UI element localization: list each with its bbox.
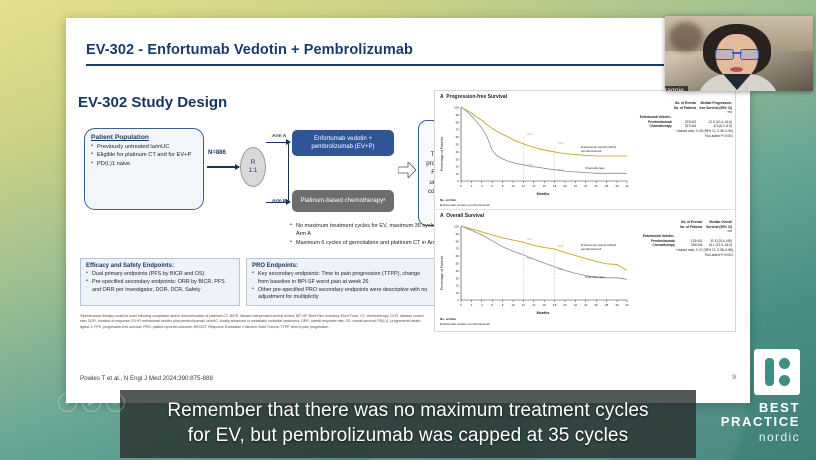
svg-text:0: 0 bbox=[460, 184, 462, 188]
glasses-left-lens bbox=[715, 49, 734, 60]
os-pvalue: Two-sided P<0.001 bbox=[637, 253, 733, 258]
svg-text:40: 40 bbox=[456, 150, 460, 154]
svg-text:80: 80 bbox=[456, 239, 460, 243]
efficacy-safety-endpoints-box: Efficacy and Safety Endpoints: Dual prim… bbox=[80, 258, 240, 306]
svg-text:20: 20 bbox=[563, 303, 567, 307]
svg-text:61.4: 61.4 bbox=[527, 256, 533, 260]
svg-text:30: 30 bbox=[615, 303, 619, 307]
randomization-letter: R bbox=[251, 159, 256, 167]
svg-text:20: 20 bbox=[456, 284, 460, 288]
svg-text:30: 30 bbox=[456, 157, 460, 161]
arm-b-connector-icon bbox=[266, 166, 289, 203]
patient-population-item: Eligible for platinum CT and for EV+P bbox=[91, 151, 198, 159]
svg-text:18: 18 bbox=[553, 303, 557, 307]
slide-title: EV-302 - Enfortumab Vedotin + Pembrolizu… bbox=[86, 42, 646, 58]
patient-population-heading: Patient Population bbox=[91, 134, 198, 141]
svg-text:4: 4 bbox=[481, 303, 483, 307]
svg-text:18: 18 bbox=[553, 184, 557, 188]
brand-logo: BEST PRACTICE nordic bbox=[721, 349, 800, 446]
study-design-title: EV-302 Study Design bbox=[78, 94, 227, 111]
efficacy-endpoints-heading: Efficacy and Safety Endpoints: bbox=[86, 263, 234, 269]
efficacy-endpoint-item: Pre-specified secondary endpoints: ORR b… bbox=[86, 279, 234, 295]
pro-endpoints-heading: PRO Endpoints: bbox=[252, 263, 432, 269]
svg-text:20: 20 bbox=[563, 184, 567, 188]
svg-text:0: 0 bbox=[460, 303, 462, 307]
svg-text:10: 10 bbox=[456, 291, 460, 295]
svg-text:78.2: 78.2 bbox=[527, 237, 533, 241]
arm-a-arrowhead-icon bbox=[286, 139, 291, 145]
glasses-icon bbox=[715, 49, 759, 58]
svg-text:30: 30 bbox=[456, 276, 460, 280]
caption-line-1: Remember that there was no maximum treat… bbox=[134, 398, 682, 423]
pfs-risk-heading: No. at Risk bbox=[440, 198, 456, 202]
svg-text:22: 22 bbox=[574, 184, 578, 188]
os-row-median: 31.5 (25.4–NR) bbox=[703, 234, 733, 243]
pfs-col-header-events: No. of Events/ No. of Patients bbox=[673, 101, 697, 110]
os-chart-panel: A Overall Survival Percentage of Patient… bbox=[435, 210, 735, 328]
svg-text:40: 40 bbox=[456, 269, 460, 273]
svg-text:12: 12 bbox=[522, 303, 526, 307]
logo-dot-top bbox=[779, 358, 790, 369]
arm-b-treatment-box: Platinum-based chemotherapyᵃ bbox=[292, 190, 394, 212]
randomization-ratio: 1:1 bbox=[249, 167, 258, 175]
os-risk-row-label: Enfortumab vedotin–pembrolizumab bbox=[440, 322, 490, 326]
svg-text:70: 70 bbox=[456, 128, 460, 132]
arm-a-connector-icon bbox=[266, 142, 289, 167]
svg-text:Months: Months bbox=[537, 311, 550, 315]
webcam-speaker-figure: aragoje bbox=[699, 24, 775, 91]
svg-text:Chemotherapy: Chemotherapy bbox=[585, 275, 605, 279]
svg-text:0: 0 bbox=[457, 298, 459, 302]
pfs-row-median: 12.5 (10.4–16.6) bbox=[697, 115, 733, 124]
os-col-header-median: Median Overall Survival (95% CI) bbox=[703, 220, 733, 229]
svg-text:14: 14 bbox=[532, 303, 536, 307]
svg-text:21.6: 21.6 bbox=[527, 163, 533, 167]
kaplan-meier-figure: A Progression-free Survival Percentage o… bbox=[434, 90, 736, 332]
svg-text:50: 50 bbox=[456, 143, 460, 147]
os-row-events: 133/442 bbox=[676, 234, 704, 243]
webcam-overlay[interactable]: aragoje bbox=[665, 16, 813, 91]
logo-dot-bottom bbox=[779, 375, 790, 386]
svg-text:24: 24 bbox=[584, 303, 588, 307]
logo-line-2: PRACTICE bbox=[721, 415, 800, 430]
svg-text:16: 16 bbox=[543, 184, 547, 188]
logo-bar-shape bbox=[765, 358, 774, 386]
svg-text:10: 10 bbox=[456, 172, 460, 176]
os-col-header-events: No. of Events/ No. of Patients bbox=[676, 220, 704, 229]
svg-text:43.9: 43.9 bbox=[527, 132, 533, 136]
study-design-flow: Patient Population Previously untreated … bbox=[76, 114, 424, 244]
svg-text:100: 100 bbox=[454, 225, 459, 229]
svg-text:10: 10 bbox=[511, 184, 515, 188]
glasses-right-lens bbox=[740, 49, 759, 60]
caption-line-2: for EV, but pembrolizumab was capped at … bbox=[134, 423, 682, 448]
pfs-row-events: 223/442 bbox=[673, 115, 697, 124]
speaker-mouth bbox=[730, 67, 743, 72]
svg-text:90: 90 bbox=[456, 232, 460, 236]
speaker-name-label: aragoje bbox=[665, 86, 688, 91]
svg-text:pembrolizumab: pembrolizumab bbox=[581, 247, 602, 251]
efficacy-endpoint-item: Dual primary endpoints (PFS by BICR and … bbox=[86, 271, 234, 279]
svg-text:60: 60 bbox=[456, 135, 460, 139]
svg-text:12: 12 bbox=[522, 184, 526, 188]
subtitle-caption: Remember that there was no maximum treat… bbox=[120, 390, 696, 458]
svg-text:50: 50 bbox=[456, 262, 460, 266]
svg-text:24: 24 bbox=[584, 184, 588, 188]
randomization-node: R 1:1 bbox=[240, 147, 266, 187]
svg-text:20: 20 bbox=[456, 165, 460, 169]
os-risk-heading: No. at Risk bbox=[440, 317, 456, 321]
svg-text:26: 26 bbox=[595, 184, 599, 188]
svg-text:30: 30 bbox=[615, 184, 619, 188]
pfs-risk-row-label: Enfortumab vedotin–pembrolizumab bbox=[440, 203, 490, 207]
mute-icon[interactable]: ⊘ bbox=[106, 393, 125, 412]
pfs-col-header-median: Median Progression-free Survival (95% CI… bbox=[697, 101, 733, 110]
pfs-risk-table: No. at Risk Enfortumab vedotin–pembroliz… bbox=[440, 198, 490, 207]
arm-a-label: Arm A bbox=[272, 134, 286, 139]
svg-text:60: 60 bbox=[456, 254, 460, 258]
logo-mark-icon bbox=[754, 349, 800, 395]
os-stats-table: No. of Events/ No. of Patients Median Ov… bbox=[637, 220, 733, 257]
svg-text:8: 8 bbox=[502, 184, 504, 188]
svg-text:6: 6 bbox=[491, 184, 493, 188]
svg-text:32: 32 bbox=[625, 184, 629, 188]
enrollment-label: N=886 bbox=[208, 150, 226, 156]
svg-text:90: 90 bbox=[456, 113, 460, 117]
play-pause-icon[interactable]: ▶ bbox=[82, 393, 101, 412]
svg-text:0: 0 bbox=[457, 179, 459, 183]
svg-text:26: 26 bbox=[595, 303, 599, 307]
slide-citation: Powles T et al., N Engl J Med 2024;390:8… bbox=[80, 375, 213, 382]
slide-canvas: EV-302 - Enfortumab Vedotin + Pembrolizu… bbox=[66, 18, 750, 403]
svg-text:8: 8 bbox=[502, 303, 504, 307]
svg-text:70: 70 bbox=[456, 247, 460, 251]
patient-population-item: PD(L)1 naive bbox=[91, 160, 198, 168]
svg-text:4: 4 bbox=[481, 184, 483, 188]
svg-text:15.4: 15.4 bbox=[558, 168, 564, 172]
svg-text:44.7: 44.7 bbox=[558, 267, 564, 271]
pfs-plot: Percentage of Patients 1009080 706050 40… bbox=[435, 99, 635, 203]
svg-text:2: 2 bbox=[471, 184, 473, 188]
slide-footnote: ᵃMaintenance therapy could be used follo… bbox=[80, 314, 430, 330]
pro-endpoint-item: Other pre-specified PRO secondary endpoi… bbox=[252, 287, 432, 303]
svg-text:33.8: 33.8 bbox=[558, 141, 564, 145]
pfs-chart-panel: A Progression-free Survival Percentage o… bbox=[435, 91, 735, 210]
pfs-stats-table: No. of Events/ No. of Patients Median Pr… bbox=[637, 101, 733, 138]
svg-text:80: 80 bbox=[456, 120, 460, 124]
pro-endpoints-box: PRO Endpoints: Key secondary endpoints: … bbox=[246, 258, 438, 306]
os-plot: Percentage of Patients 1009080 706050 40… bbox=[435, 218, 635, 322]
svg-text:Percentage of Patients: Percentage of Patients bbox=[440, 256, 444, 291]
patient-population-box: Patient Population Previously untreated … bbox=[84, 128, 204, 210]
svg-text:6: 6 bbox=[491, 303, 493, 307]
arm-a-treatment-box: Enfortumab vedotin + pembrolizumab (EV+P… bbox=[292, 130, 394, 156]
os-risk-table: No. at Risk Enfortumab vedotin–pembroliz… bbox=[440, 317, 490, 326]
svg-text:22: 22 bbox=[574, 303, 578, 307]
svg-text:16: 16 bbox=[543, 303, 547, 307]
svg-text:2: 2 bbox=[471, 303, 473, 307]
rewind-icon[interactable]: ↺ bbox=[58, 393, 77, 412]
svg-text:Percentage of Patients: Percentage of Patients bbox=[440, 137, 444, 172]
arm-b-arrowhead-icon bbox=[286, 199, 291, 205]
os-row-label: Enfortumab Vedotin–Pembrolizumab bbox=[637, 234, 676, 243]
slide-title-rule bbox=[86, 64, 664, 66]
svg-text:28: 28 bbox=[605, 184, 609, 188]
svg-text:pembrolizumab: pembrolizumab bbox=[581, 149, 602, 153]
svg-text:32: 32 bbox=[625, 303, 629, 307]
pfs-pvalue: Two-sided P<0.001 bbox=[637, 134, 733, 139]
pro-endpoint-item: Key secondary endpoints: Time to pain pr… bbox=[252, 271, 432, 287]
player-controls[interactable]: ↺ ▶ ⊘ bbox=[58, 393, 125, 412]
svg-text:10: 10 bbox=[511, 303, 515, 307]
pfs-row-label: Enfortumab Vedotin–Pembrolizumab bbox=[637, 115, 673, 124]
logo-line-1: BEST bbox=[721, 401, 800, 416]
svg-text:14: 14 bbox=[532, 184, 536, 188]
webcam-background-person bbox=[669, 22, 703, 52]
svg-text:28: 28 bbox=[605, 303, 609, 307]
svg-text:Months: Months bbox=[537, 192, 550, 196]
patient-population-item: Previously untreated la/mUC bbox=[91, 143, 198, 151]
svg-text:68.9: 68.9 bbox=[558, 244, 564, 248]
svg-text:100: 100 bbox=[454, 106, 459, 110]
svg-text:Chemotherapy: Chemotherapy bbox=[585, 166, 605, 170]
logo-line-3: nordic bbox=[721, 430, 800, 446]
enrollment-arrow-icon bbox=[207, 166, 239, 168]
